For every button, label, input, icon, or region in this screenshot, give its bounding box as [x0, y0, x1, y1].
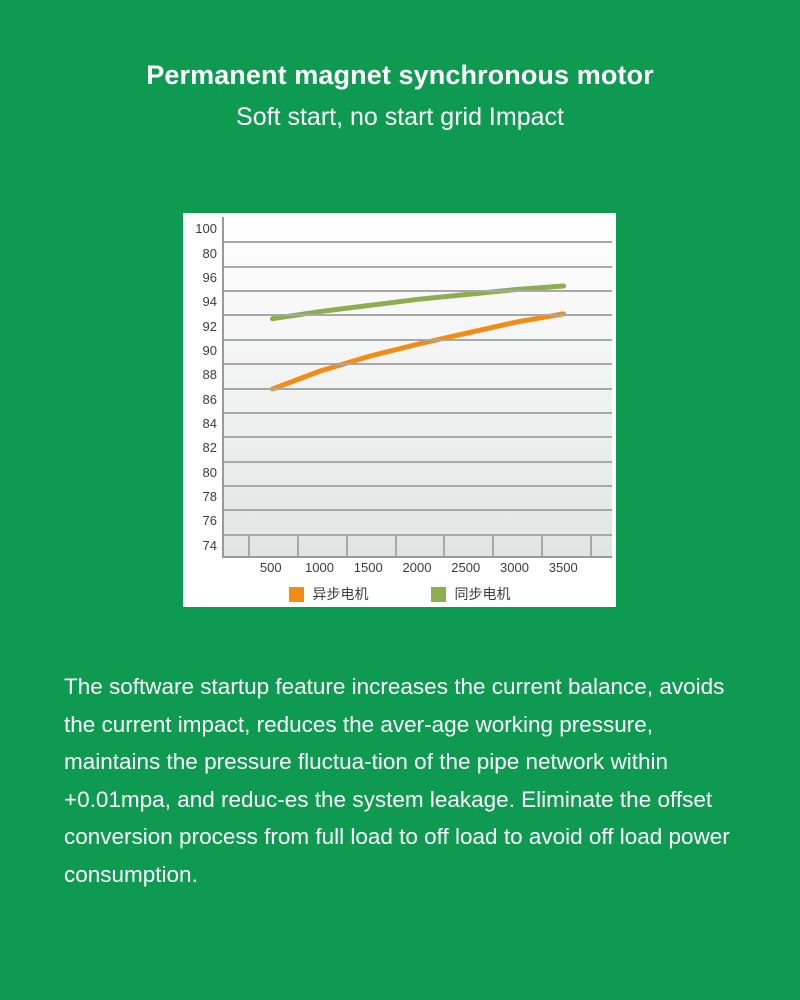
x-tick-label: 3000	[500, 561, 529, 575]
chart-panel: 10080969492908886848280787674 5001000150…	[183, 213, 616, 607]
gridline-horizontal	[224, 363, 612, 365]
legend-swatch-async-icon	[289, 587, 304, 602]
y-tick-label: 94	[203, 295, 217, 308]
chart-legend: 异步电机 同步电机	[183, 582, 616, 607]
x-axis: 500100015002000250030003500	[222, 561, 614, 583]
series-layer	[224, 217, 612, 556]
gridline-horizontal	[224, 509, 612, 511]
gridline-vertical	[346, 534, 348, 556]
y-tick-label: 90	[203, 344, 217, 357]
gridline-vertical	[590, 534, 592, 556]
gridline-horizontal	[224, 436, 612, 438]
gridline-horizontal	[224, 241, 612, 243]
y-tick-label: 96	[203, 271, 217, 284]
body-paragraph: The software startup feature increases t…	[64, 668, 754, 893]
gridline-horizontal	[224, 266, 612, 268]
y-tick-label: 88	[203, 368, 217, 381]
y-tick-label: 76	[203, 514, 217, 527]
page-title: Permanent magnet synchronous motor	[0, 58, 800, 92]
y-tick-label: 92	[203, 320, 217, 333]
header: Permanent magnet synchronous motor Soft …	[0, 0, 800, 134]
gridline-horizontal	[224, 461, 612, 463]
page-subtitle: Soft start, no start grid Impact	[0, 100, 800, 134]
gridline-vertical	[395, 534, 397, 556]
gridline-horizontal	[224, 290, 612, 292]
legend-item-async: 异步电机	[289, 587, 369, 602]
legend-label-sync: 同步电机	[455, 587, 511, 602]
gridline-horizontal	[224, 534, 612, 536]
gridline-horizontal	[224, 314, 612, 316]
legend-item-sync: 同步电机	[431, 587, 511, 602]
x-tick-label: 1500	[354, 561, 383, 575]
gridline-horizontal	[224, 485, 612, 487]
y-tick-label: 80	[203, 247, 217, 260]
gridline-vertical	[248, 534, 250, 556]
x-tick-label: 3500	[549, 561, 578, 575]
legend-label-async: 异步电机	[313, 587, 369, 602]
y-tick-label: 82	[203, 441, 217, 454]
x-tick-label: 2500	[451, 561, 480, 575]
legend-swatch-sync-icon	[431, 587, 446, 602]
y-tick-label: 84	[203, 417, 217, 430]
y-tick-label: 74	[203, 539, 217, 552]
y-axis: 10080969492908886848280787674	[183, 213, 219, 558]
gridline-vertical	[492, 534, 494, 556]
gridline-vertical	[443, 534, 445, 556]
y-tick-label: 100	[195, 222, 217, 235]
chart-inner: 10080969492908886848280787674 5001000150…	[183, 213, 616, 607]
y-tick-label: 80	[203, 466, 217, 479]
series-line-async	[273, 314, 564, 389]
y-tick-label: 86	[203, 393, 217, 406]
y-tick-label: 78	[203, 490, 217, 503]
x-tick-label: 2000	[403, 561, 432, 575]
gridline-horizontal	[224, 339, 612, 341]
gridline-horizontal	[224, 412, 612, 414]
gridline-horizontal	[224, 388, 612, 390]
x-tick-label: 1000	[305, 561, 334, 575]
plot-area	[222, 217, 612, 558]
gridline-vertical	[541, 534, 543, 556]
promo-page: { "header": { "title_main": "Permanent m…	[0, 0, 800, 1000]
gridline-vertical	[297, 534, 299, 556]
x-tick-label: 500	[260, 561, 282, 575]
